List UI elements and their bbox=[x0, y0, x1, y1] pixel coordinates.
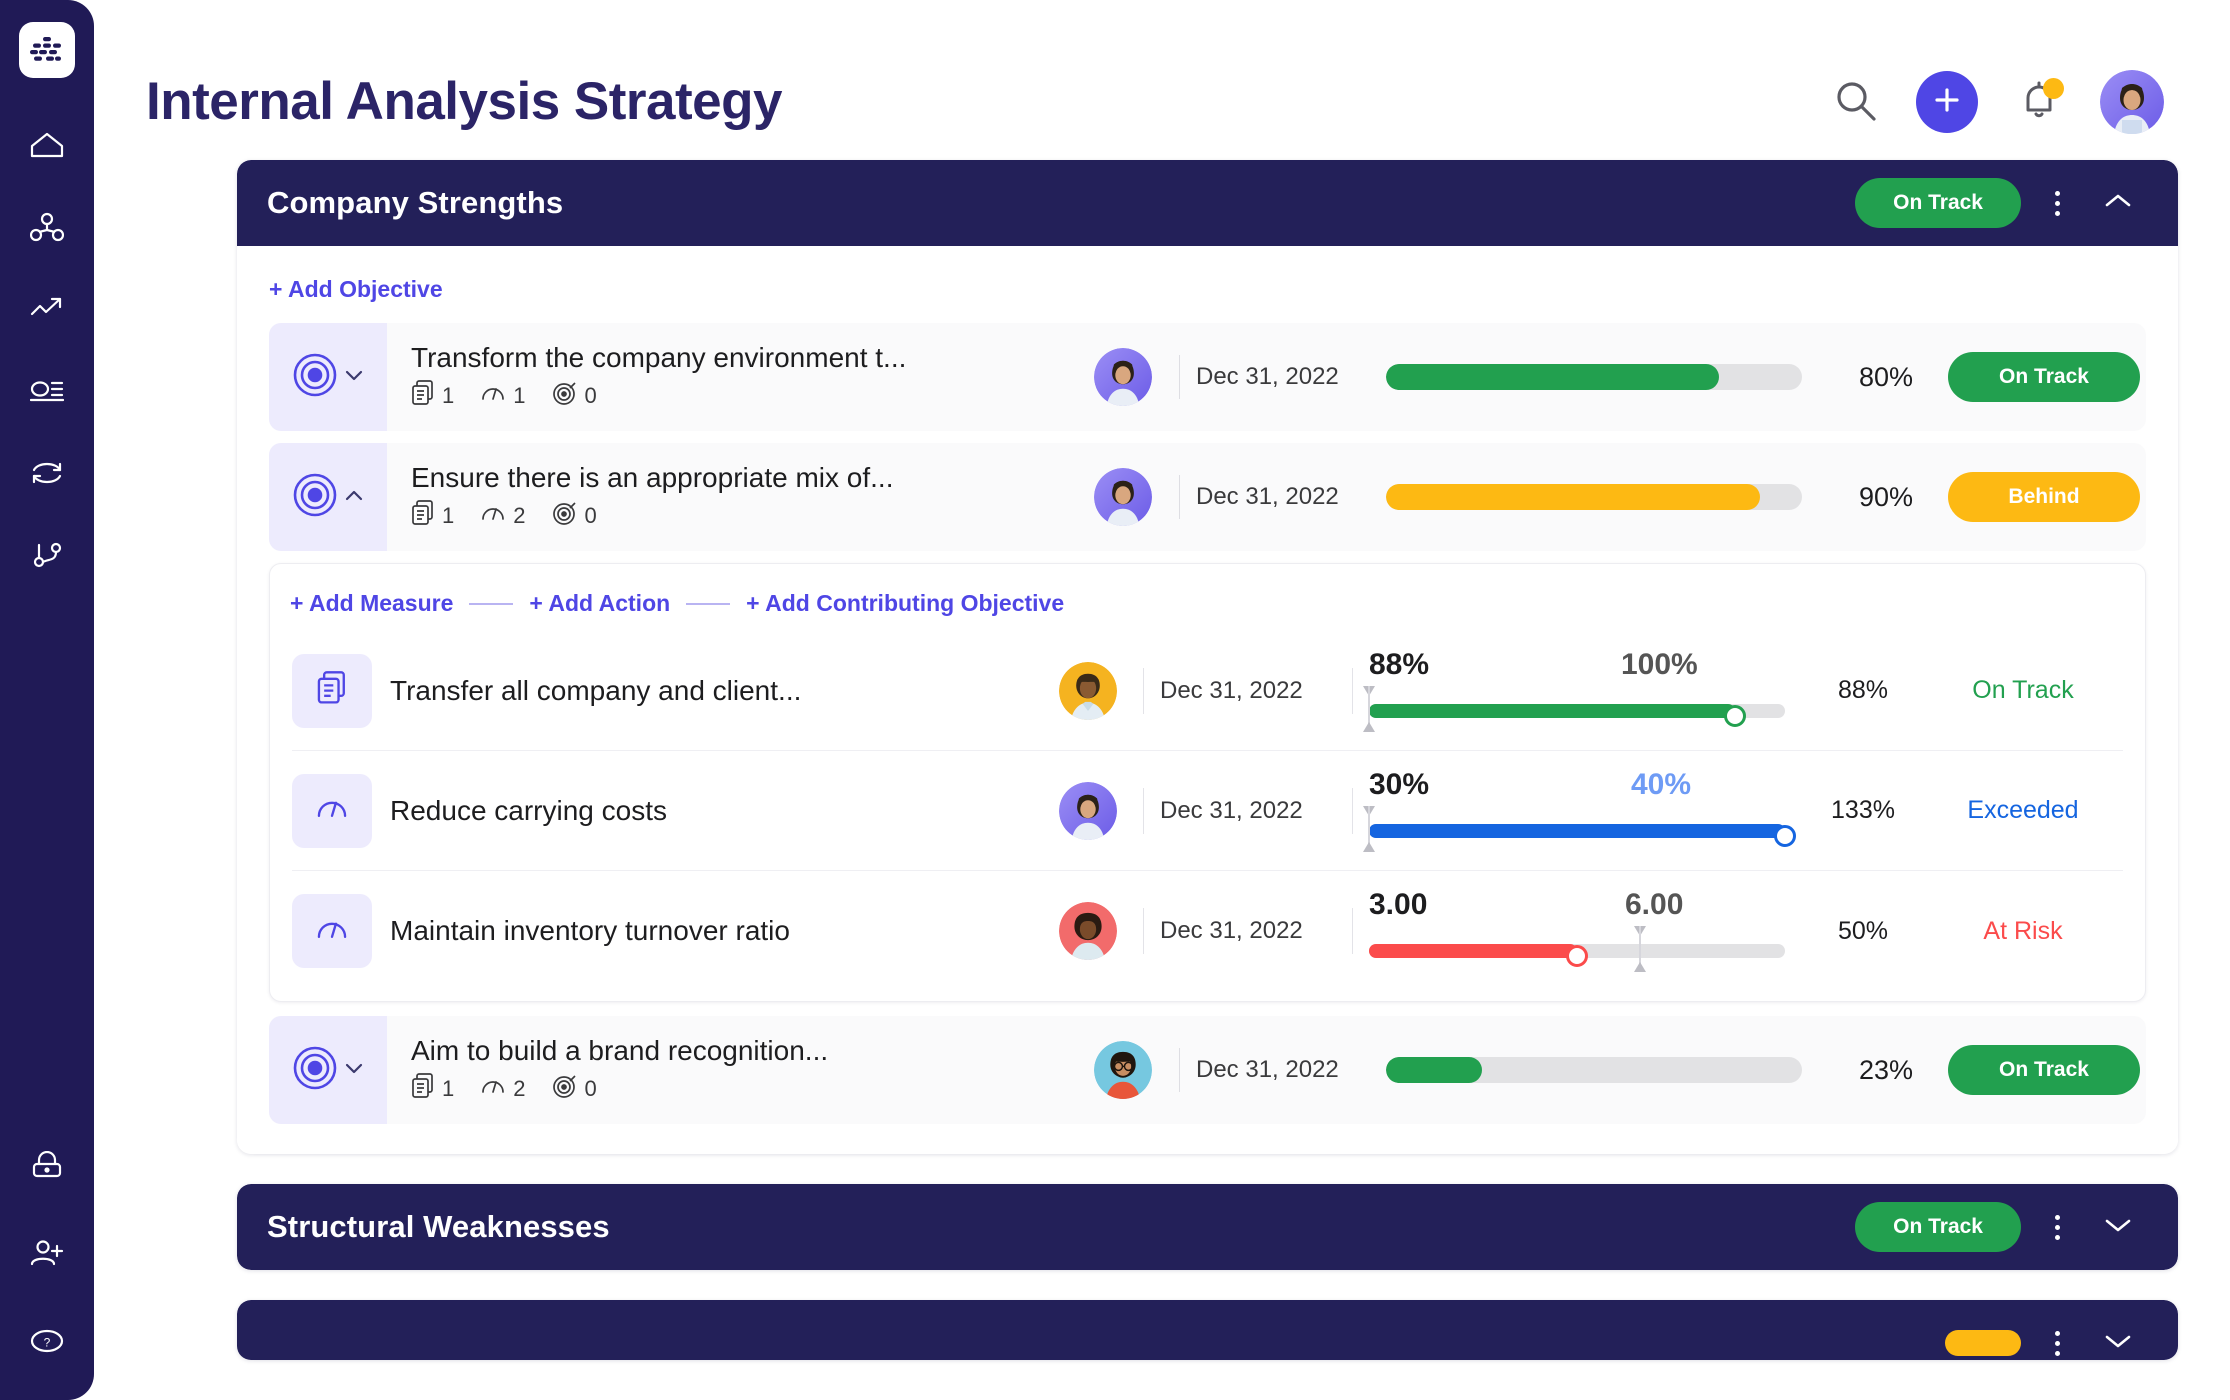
add-links: + Add Measure + Add Action + Add Contrib… bbox=[270, 564, 2145, 631]
measure-name: Transfer all company and client... bbox=[390, 675, 1049, 707]
dashboard-list-icon bbox=[30, 378, 64, 409]
section-status-badge[interactable]: On Track bbox=[1855, 1202, 2021, 1252]
section-title: Structural Weaknesses bbox=[267, 1209, 610, 1245]
sidebar-item-organization[interactable] bbox=[18, 200, 76, 258]
kebab-dot bbox=[2055, 191, 2060, 196]
kebab-dot bbox=[2055, 1341, 2060, 1346]
progress-fill bbox=[1386, 1057, 1482, 1083]
chevron-down-icon bbox=[344, 1061, 364, 1080]
measure-row[interactable]: Maintain inventory turnover ratio bbox=[292, 871, 2123, 991]
divider bbox=[1179, 1048, 1180, 1092]
avatar bbox=[1094, 468, 1152, 526]
objective-main: Transform the company environment t... bbox=[387, 328, 1083, 426]
divider bbox=[1179, 475, 1180, 519]
section-header[interactable]: Company Strengths On Track bbox=[237, 160, 2178, 246]
objective-status: On Track bbox=[1946, 1045, 2146, 1095]
kebab-dot bbox=[2055, 1351, 2060, 1356]
slider-handle[interactable] bbox=[1774, 825, 1796, 847]
objective-owner[interactable] bbox=[1083, 348, 1163, 406]
meta-count: 0 bbox=[585, 503, 597, 529]
progress-fill bbox=[1386, 364, 1719, 390]
app-logo[interactable] bbox=[19, 22, 75, 78]
slider-target-value: 6.00 bbox=[1625, 888, 1683, 922]
objective-expand-toggle[interactable] bbox=[269, 323, 387, 431]
meta-count: 2 bbox=[513, 503, 525, 529]
status-badge[interactable]: Behind bbox=[1948, 472, 2140, 522]
kebab-dot bbox=[2055, 1331, 2060, 1336]
status-badge[interactable]: On Track bbox=[1948, 352, 2140, 402]
measure-status: At Risk bbox=[1923, 917, 2123, 946]
sections-container: Company Strengths On Track bbox=[237, 160, 2178, 1360]
document-icon bbox=[411, 500, 435, 532]
slider-start-value: 3.00 bbox=[1369, 888, 1427, 922]
section-collapse-toggle[interactable] bbox=[2094, 186, 2142, 221]
gauge-icon bbox=[480, 1074, 506, 1104]
avatar bbox=[1094, 1041, 1152, 1099]
section-more-button[interactable] bbox=[2045, 183, 2070, 224]
slider-start-value: 88% bbox=[1369, 648, 1429, 682]
section-status-badge[interactable] bbox=[1945, 1330, 2021, 1356]
objective-expand-toggle[interactable] bbox=[269, 443, 387, 551]
slider-track-wrap bbox=[1363, 810, 1803, 850]
add-user-icon bbox=[30, 1239, 64, 1272]
target-icon bbox=[292, 472, 338, 523]
kebab-dot bbox=[2055, 1225, 2060, 1230]
objective-children-panel: + Add Measure + Add Action + Add Contrib… bbox=[269, 563, 2146, 1002]
gauge-icon bbox=[315, 913, 349, 950]
chevron-down-icon bbox=[344, 368, 364, 387]
objective-row[interactable]: Transform the company environment t... bbox=[269, 323, 2146, 431]
top-bar: Internal Analysis Strategy bbox=[94, 0, 2230, 160]
marker-triangle bbox=[1363, 722, 1375, 732]
slider-handle[interactable] bbox=[1724, 705, 1746, 727]
sidebar-item-home[interactable] bbox=[18, 118, 76, 176]
link-divider bbox=[686, 603, 730, 605]
objective-meta: 1 2 bbox=[411, 1073, 1083, 1105]
add-button[interactable] bbox=[1916, 71, 1978, 133]
divider bbox=[1143, 908, 1144, 954]
progress-track bbox=[1386, 484, 1802, 510]
slider-target-value: 100% bbox=[1621, 648, 1698, 682]
slider-fill bbox=[1369, 824, 1785, 838]
meta-count: 2 bbox=[513, 1076, 525, 1102]
slider-track bbox=[1369, 824, 1785, 838]
chevron-up-icon bbox=[2104, 192, 2132, 215]
measure-percent: 50% bbox=[1803, 917, 1923, 946]
section-status-badge[interactable]: On Track bbox=[1855, 178, 2021, 228]
meta-count: 1 bbox=[442, 1076, 454, 1102]
section-header-actions: On Track bbox=[1855, 178, 2142, 228]
meta-measures: 2 bbox=[480, 1074, 525, 1104]
section-title: Company Strengths bbox=[267, 185, 563, 221]
lock-icon bbox=[31, 1151, 63, 1184]
objective-due-date: Dec 31, 2022 bbox=[1196, 1056, 1386, 1084]
slider-target-marker bbox=[1632, 926, 1648, 972]
chevron-up-icon bbox=[344, 488, 364, 507]
objective-expand-toggle[interactable] bbox=[269, 1016, 387, 1124]
target-icon bbox=[552, 1073, 578, 1105]
objective-meta: 1 1 bbox=[411, 380, 1083, 412]
home-icon bbox=[30, 130, 64, 165]
notification-badge bbox=[2043, 78, 2064, 99]
measure-slider[interactable]: 3.00 6.00 bbox=[1363, 888, 1803, 974]
marker-triangle bbox=[1363, 842, 1375, 852]
meta-measures: 2 bbox=[480, 501, 525, 531]
measure-slider[interactable]: 88% 100% bbox=[1363, 648, 1803, 734]
measure-type-icon-cell bbox=[292, 894, 372, 968]
chevron-down-icon bbox=[2104, 1216, 2132, 1239]
meta-objectives: 0 bbox=[552, 380, 597, 412]
measure-type-icon-cell bbox=[292, 654, 372, 728]
page-title: Internal Analysis Strategy bbox=[146, 74, 782, 130]
slider-track-wrap bbox=[1363, 930, 1803, 970]
org-chart-icon bbox=[30, 212, 64, 247]
section-expand-toggle[interactable] bbox=[2094, 1210, 2142, 1245]
help-icon: ? bbox=[30, 1328, 64, 1359]
objective-row[interactable]: Aim to build a brand recognition... bbox=[269, 1016, 2146, 1124]
app-root: ? Internal Analysis Strategy bbox=[0, 0, 2230, 1400]
status-badge[interactable]: On Track bbox=[1948, 1045, 2140, 1095]
add-contributing-objective-link[interactable]: + Add Contributing Objective bbox=[746, 590, 1064, 617]
meta-count: 1 bbox=[442, 503, 454, 529]
meta-count: 1 bbox=[513, 383, 525, 409]
measure-name: Reduce carrying costs bbox=[390, 795, 1049, 827]
section-header[interactable]: Structural Weaknesses On Track bbox=[237, 1184, 2178, 1270]
objective-row[interactable]: Ensure there is an appropriate mix of... bbox=[269, 443, 2146, 551]
measure-type-icon-cell bbox=[292, 774, 372, 848]
avatar[interactable] bbox=[2100, 70, 2164, 134]
sidebar-item-invite[interactable] bbox=[18, 1226, 76, 1284]
objective-progress bbox=[1386, 1057, 1826, 1083]
plus-icon bbox=[1932, 85, 1962, 120]
svg-text:?: ? bbox=[44, 1335, 51, 1349]
add-action-link[interactable]: + Add Action bbox=[529, 590, 670, 617]
avatar bbox=[1059, 662, 1117, 720]
divider bbox=[1352, 668, 1353, 714]
branch-icon bbox=[30, 541, 64, 574]
meta-count: 0 bbox=[585, 383, 597, 409]
document-icon bbox=[411, 1073, 435, 1105]
section-more-button[interactable] bbox=[2045, 1207, 2070, 1248]
avatar bbox=[1059, 902, 1117, 960]
measure-status: Exceeded bbox=[1923, 796, 2123, 825]
slider-start-value: 30% bbox=[1369, 768, 1429, 802]
slider-fill bbox=[1369, 704, 1735, 718]
kebab-dot bbox=[2055, 1235, 2060, 1240]
slider-target-marker bbox=[1361, 686, 1377, 732]
objective-due-date: Dec 31, 2022 bbox=[1196, 483, 1386, 511]
add-objective-link[interactable]: + Add Objective bbox=[237, 246, 443, 323]
meta-objectives: 0 bbox=[552, 1073, 597, 1105]
add-measure-link[interactable]: + Add Measure bbox=[290, 590, 453, 617]
measure-row[interactable]: Transfer all company and client... bbox=[292, 631, 2123, 751]
measure-owner[interactable] bbox=[1049, 662, 1127, 720]
kebab-dot bbox=[2055, 1215, 2060, 1220]
slider-labels: 3.00 6.00 bbox=[1363, 888, 1803, 930]
target-icon bbox=[552, 380, 578, 412]
measure-due-date: Dec 31, 2022 bbox=[1160, 917, 1350, 945]
divider bbox=[1179, 355, 1180, 399]
meta-actions: 1 bbox=[411, 500, 454, 532]
objective-status: Behind bbox=[1946, 472, 2146, 522]
objective-name: Aim to build a brand recognition... bbox=[411, 1035, 1083, 1067]
measure-owner[interactable] bbox=[1049, 782, 1127, 840]
objective-progress bbox=[1386, 364, 1826, 390]
measure-status: On Track bbox=[1923, 676, 2123, 705]
objective-meta: 1 2 bbox=[411, 500, 1083, 532]
section-partial bbox=[237, 1300, 2178, 1360]
marker-triangle bbox=[1634, 962, 1646, 972]
slider-target-value: 40% bbox=[1631, 768, 1691, 802]
objective-percent: 23% bbox=[1826, 1055, 1946, 1086]
slider-labels: 30% 40% bbox=[1363, 768, 1803, 810]
meta-actions: 1 bbox=[411, 1073, 454, 1105]
avatar bbox=[1094, 348, 1152, 406]
sidebar-item-help[interactable]: ? bbox=[18, 1314, 76, 1372]
section-header-actions: On Track bbox=[1855, 1202, 2142, 1252]
document-icon bbox=[411, 380, 435, 412]
sidebar: ? bbox=[0, 0, 94, 1400]
section-expand-toggle[interactable] bbox=[2094, 1326, 2142, 1361]
section-more-button[interactable] bbox=[2045, 1323, 2070, 1361]
section-company-strengths: Company Strengths On Track bbox=[237, 160, 2178, 1154]
measure-due-date: Dec 31, 2022 bbox=[1160, 797, 1350, 825]
chevron-down-icon bbox=[2104, 1332, 2132, 1355]
slider-target-marker bbox=[1361, 806, 1377, 852]
measure-due-date: Dec 31, 2022 bbox=[1160, 677, 1350, 705]
search-icon bbox=[1832, 77, 1878, 128]
objective-main: Ensure there is an appropriate mix of... bbox=[387, 448, 1083, 546]
document-icon bbox=[316, 671, 348, 710]
sidebar-item-updates[interactable] bbox=[18, 446, 76, 504]
section-structural-weaknesses: Structural Weaknesses On Track bbox=[237, 1184, 2178, 1270]
section-body: + Add Objective bbox=[237, 246, 2178, 1154]
meta-count: 0 bbox=[585, 1076, 597, 1102]
measure-percent: 88% bbox=[1803, 676, 1923, 705]
objective-name: Transform the company environment t... bbox=[411, 342, 1083, 374]
search-button[interactable] bbox=[1832, 77, 1878, 128]
objective-percent: 90% bbox=[1826, 482, 1946, 513]
measure-percent: 133% bbox=[1803, 796, 1923, 825]
progress-track bbox=[1386, 1057, 1802, 1083]
section-header[interactable] bbox=[237, 1300, 2178, 1360]
slider-labels: 88% 100% bbox=[1363, 648, 1803, 690]
measure-name: Maintain inventory turnover ratio bbox=[390, 915, 1049, 947]
sidebar-item-admin[interactable] bbox=[18, 1138, 76, 1196]
meta-measures: 1 bbox=[480, 381, 525, 411]
objective-due-date: Dec 31, 2022 bbox=[1196, 363, 1386, 391]
objective-name: Ensure there is an appropriate mix of... bbox=[411, 462, 1083, 494]
sidebar-item-alignment[interactable] bbox=[18, 528, 76, 586]
sync-icon bbox=[30, 460, 64, 491]
target-icon bbox=[292, 352, 338, 403]
notifications-button[interactable] bbox=[2016, 79, 2062, 125]
meta-actions: 1 bbox=[411, 380, 454, 412]
objective-owner[interactable] bbox=[1083, 468, 1163, 526]
measure-slider[interactable]: 30% 40% bbox=[1363, 768, 1803, 854]
measure-owner[interactable] bbox=[1049, 902, 1127, 960]
slider-fill bbox=[1369, 944, 1577, 958]
top-actions bbox=[1832, 70, 2164, 134]
sidebar-bottom-group: ? bbox=[0, 1108, 94, 1372]
divider bbox=[1352, 908, 1353, 954]
meta-count: 1 bbox=[442, 383, 454, 409]
gauge-icon bbox=[480, 381, 506, 411]
target-icon bbox=[552, 500, 578, 532]
measure-row[interactable]: Reduce carrying costs bbox=[292, 751, 2123, 871]
kebab-dot bbox=[2055, 211, 2060, 216]
section-header-actions bbox=[1945, 1323, 2142, 1361]
slider-track-wrap bbox=[1363, 690, 1803, 730]
divider bbox=[1143, 788, 1144, 834]
divider bbox=[1143, 668, 1144, 714]
link-divider bbox=[469, 603, 513, 605]
gauge-icon bbox=[480, 501, 506, 531]
objective-status: On Track bbox=[1946, 352, 2146, 402]
main-content: Internal Analysis Strategy bbox=[94, 0, 2230, 1400]
objective-owner[interactable] bbox=[1083, 1041, 1163, 1099]
meta-objectives: 0 bbox=[552, 500, 597, 532]
slider-track bbox=[1369, 944, 1785, 958]
objective-percent: 80% bbox=[1826, 362, 1946, 393]
sidebar-item-dashboards[interactable] bbox=[18, 364, 76, 422]
slider-track bbox=[1369, 704, 1785, 718]
target-icon bbox=[292, 1045, 338, 1096]
objective-main: Aim to build a brand recognition... bbox=[387, 1021, 1083, 1119]
divider bbox=[1352, 788, 1353, 834]
objective-progress bbox=[1386, 484, 1826, 510]
slider-handle[interactable] bbox=[1566, 945, 1588, 967]
progress-track bbox=[1386, 364, 1802, 390]
kebab-dot bbox=[2055, 201, 2060, 206]
progress-fill bbox=[1386, 484, 1760, 510]
sidebar-item-performance[interactable] bbox=[18, 282, 76, 340]
avatar bbox=[1059, 782, 1117, 840]
gauge-icon bbox=[315, 792, 349, 829]
trending-up-icon bbox=[30, 296, 64, 327]
